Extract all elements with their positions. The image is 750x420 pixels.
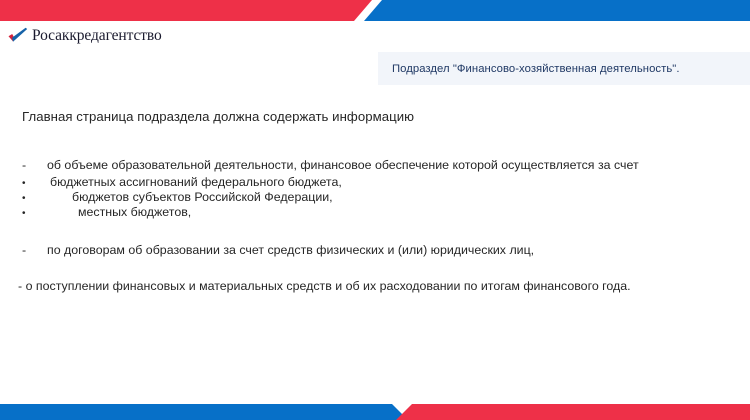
- list-item-label: по договорам об образовании за счет сред…: [47, 243, 534, 257]
- top-banner-red-stripe: [0, 0, 372, 21]
- summary-line: - о поступлении финансовых и материальны…: [18, 279, 728, 293]
- bottom-banner: [0, 404, 750, 420]
- top-banner-blue-stripe: [362, 0, 750, 21]
- list-marker-bullet: •: [22, 193, 50, 204]
- page-heading: Главная страница подраздела должна содер…: [22, 109, 414, 124]
- top-banner: [0, 0, 750, 21]
- list-marker-dash: -: [22, 243, 47, 257]
- list-spacer: [22, 260, 728, 279]
- list-item: • бюджетов субъектов Российской Федераци…: [22, 190, 728, 204]
- list-marker-dash: -: [22, 158, 47, 172]
- list-item-label: об объеме образовательной деятельности, …: [47, 158, 639, 172]
- list-item-label: бюджетных ассигнований федерального бюдж…: [50, 175, 342, 189]
- subsection-callout: Подраздел "Финансово-хозяйственная деяте…: [378, 52, 750, 85]
- bottom-banner-red-stripe: [396, 404, 750, 420]
- list-item: - по договорам об образовании за счет ср…: [22, 243, 728, 257]
- list-item-label: бюджетов субъектов Российской Федерации,: [50, 190, 333, 204]
- list-item: • бюджетных ассигнований федерального бю…: [22, 175, 728, 189]
- list-item-label: местных бюджетов,: [50, 205, 191, 219]
- list-item: • местных бюджетов,: [22, 205, 728, 219]
- bottom-banner-blue-stripe: [0, 404, 408, 420]
- brand-logo[interactable]: Росаккредагентство: [8, 27, 162, 44]
- checkmark-logo-icon: [8, 27, 28, 44]
- list-item: - об объеме образовательной деятельности…: [22, 158, 728, 172]
- content-list: - об объеме образовательной деятельности…: [22, 158, 728, 293]
- list-marker-bullet: •: [22, 208, 50, 219]
- list-spacer: [22, 220, 728, 243]
- list-marker-bullet: •: [22, 178, 50, 189]
- brand-logo-text: Росаккредагентство: [32, 28, 162, 44]
- subsection-callout-text: Подраздел "Финансово-хозяйственная деяте…: [378, 63, 680, 75]
